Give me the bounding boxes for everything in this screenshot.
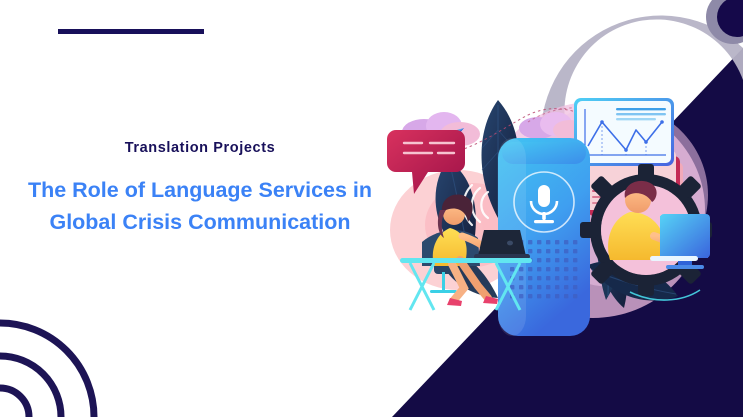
page-title: The Role of Language Services in Global …	[0, 175, 400, 237]
top-left-rule	[58, 29, 204, 34]
man-in-gear-with-monitor	[580, 164, 712, 296]
arc-inner	[0, 388, 29, 417]
arc-outer	[0, 323, 94, 417]
illustration	[378, 60, 743, 340]
slide-canvas: Translation Projects The Role of Languag…	[0, 0, 743, 417]
bottom-left-arcs	[0, 323, 94, 417]
voice-assistant-illustration	[378, 60, 743, 340]
text-block: Translation Projects The Role of Languag…	[0, 140, 400, 238]
eyebrow-label: Translation Projects	[0, 140, 400, 157]
